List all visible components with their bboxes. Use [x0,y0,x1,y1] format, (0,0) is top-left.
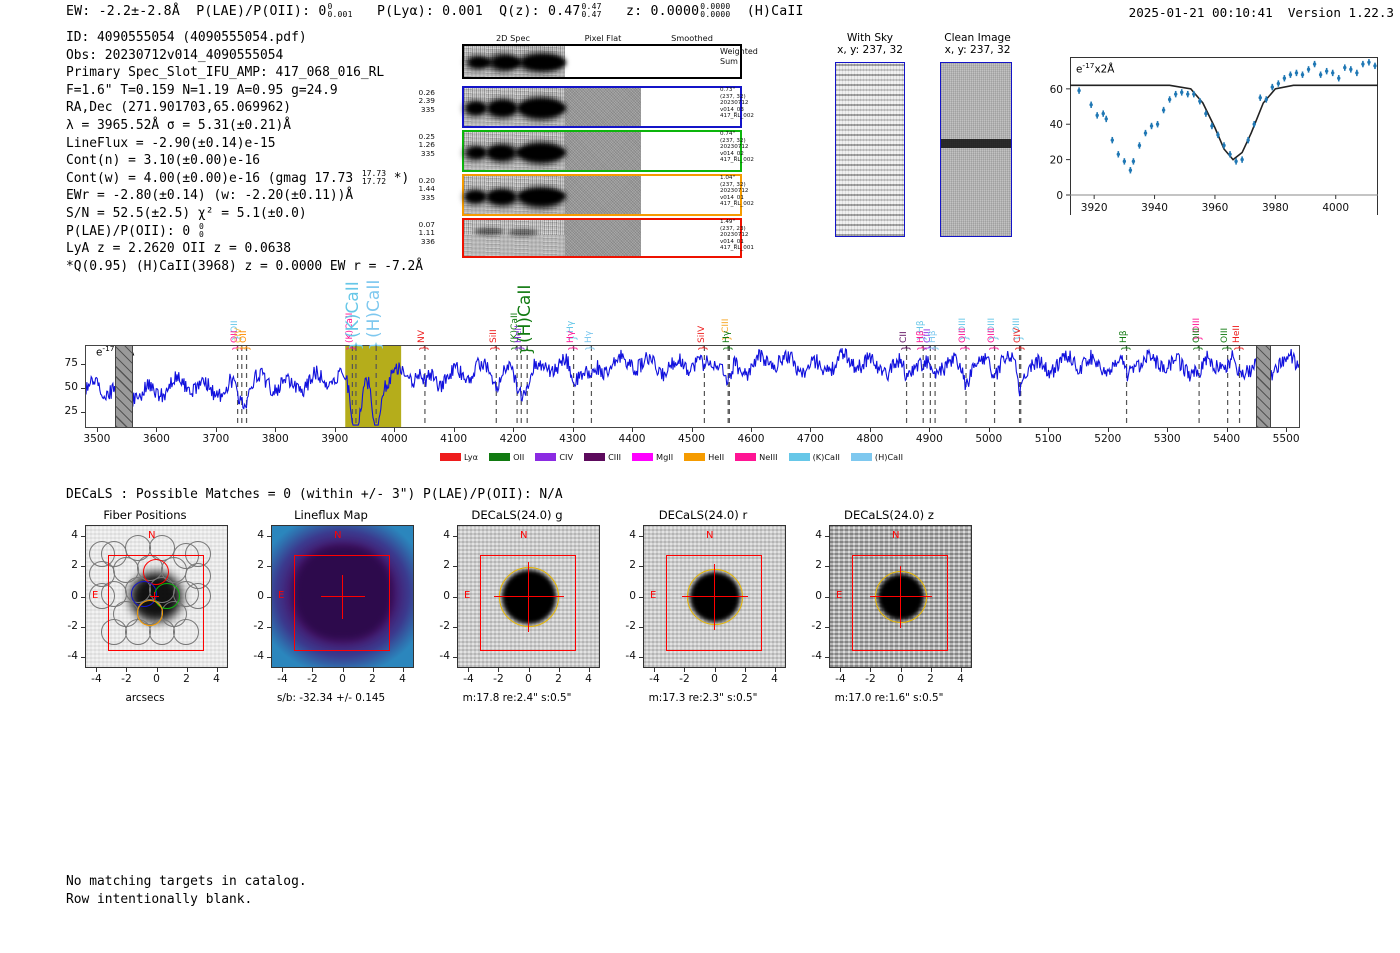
decals-xtick-mark-1-0 [282,668,283,672]
row1-pixelflat-image [565,88,642,126]
decals-ytick-3-0: -4 [613,650,636,662]
decals-ytick-mark-4-4 [825,536,829,537]
spectrum-line-brace-26: { [988,345,998,351]
decals-ytick-mark-1-3 [267,566,271,567]
spectrum-line-brace-24: { [959,345,969,351]
legend-label-2: CIV [559,452,573,462]
spec2d-row-2 [462,130,742,172]
decals-ytick-mark-0-0 [81,657,85,658]
decals-xtick-0-3: 2 [171,673,203,685]
spectrum-ytick-25: 25 [52,405,78,417]
spectrum-xtick-4200: 4200 [487,433,539,445]
decals-xtick-mark-2-3 [559,668,560,672]
spectrum-line-brace-28: { [1014,345,1024,351]
legend-label-3: CIII [608,452,621,462]
legend-swatch-4 [632,453,653,461]
spectrum-line-brace-11: { [519,346,534,356]
decals-xtick-1-2: 0 [327,673,359,685]
spectrum-xtick-mark-4400 [632,428,633,432]
decals-ytick-mark-2-2 [453,597,457,598]
row2-val-2: 335 [411,150,435,158]
decals-xtick-mark-3-3 [745,668,746,672]
clean-image-title: Clean Image x, y: 237, 32 [925,32,1030,57]
spectrum-line-brace-13: { [567,345,577,351]
decals-xtick-mark-1-1 [312,668,313,672]
svg-text:3960: 3960 [1202,202,1229,214]
z-label: z: [626,4,642,19]
legend-swatch-5 [684,453,705,461]
row4-meta-2: 20230712 [720,232,780,239]
footer-note: No matching targets in catalog. Row inte… [66,873,307,908]
decals-ytick-mark-1-4 [267,536,271,537]
decals-east-label-4: E [836,590,842,601]
spectrum-xtick-5200: 5200 [1082,433,1134,445]
decals-ytick-3-3: 2 [613,559,636,571]
spec2d-row-3 [462,174,742,216]
decals-panel-plot-4[interactable]: NE [829,525,972,668]
decals-xtick-1-0: -4 [266,673,298,685]
decals-north-label-3: N [706,530,713,541]
weighted-sum-line1: Weighted [720,47,758,56]
spectrum-line-label-NV-7: NV [418,311,427,343]
spectrum-xtick-mark-3600 [156,428,157,432]
legend-item-NeIII: NeIII [735,452,777,462]
z-line-id: (H)CaII [747,4,804,19]
row2-meta-0: 0.74" [720,131,780,138]
svg-text:20: 20 [1050,155,1063,167]
plae-label: P(LAE)/P(OII): [196,4,310,19]
decals-east-label-0: E [92,590,98,601]
target-info-block: ID: 4090555054 (4090555054.pdf) Obs: 202… [66,29,423,275]
decals-cross-v-3 [714,564,715,630]
svg-text:60: 60 [1050,84,1063,96]
zoom-line-plot: e-17x2Å 020406039203940396039804000 [1040,52,1388,215]
spectrum-xtick-4700: 4700 [784,433,836,445]
spectrum-line-brace-14: { [585,345,595,351]
decals-cross-v-2 [528,562,529,632]
decals-xtick-mark-3-0 [654,668,655,672]
decals-xtick-mark-0-2 [157,668,158,672]
spectrum-line-brace-17: { [723,345,733,351]
decals-xtick-mark-1-4 [403,668,404,672]
decals-xtick-0-0: -4 [80,673,112,685]
decals-xtick-mark-3-1 [684,668,685,672]
spectrum-xtick-4000: 4000 [368,433,420,445]
spectrum-xtick-mark-3900 [335,428,336,432]
row4-meta-1: (237, 23) [720,226,780,233]
decals-ytick-1-0: -4 [241,650,264,662]
with-sky-title-text: With Sky [847,32,893,44]
row1-val-2: 335 [411,106,435,114]
spectrum-xtick-5400: 5400 [1201,433,1253,445]
spectrum-xtick-4500: 4500 [666,433,718,445]
row1-meta-1: (237, 32) [720,94,780,101]
decals-panel-4[interactable]: DECaLS(24.0) zNE-4-4-2-2002244m:17.0 re:… [799,508,979,708]
fiber-marker-orange [137,600,163,626]
decals-ytick-mark-0-2 [81,597,85,598]
decals-xtick-mark-0-1 [126,668,127,672]
row4-meta-4: 417_RL_001 [720,245,780,252]
decals-ytick-mark-0-4 [81,536,85,537]
spectrum-xtick-4300: 4300 [547,433,599,445]
spec2d-col-title-2dspec: 2D Spec [462,33,564,43]
spectrum-line-label-Hβ-29: Hβ [1120,311,1129,343]
decals-xtick-1-4: 4 [387,673,419,685]
decals-xtick-2-2: 0 [513,673,545,685]
decals-panel-2[interactable]: DECaLS(24.0) gNE-4-4-2-2002244m:17.8 re:… [427,508,607,708]
row3-meta-4: 417_RL_002 [720,201,780,208]
legend-swatch-6 [735,453,756,461]
spectrum-line-brace-22: { [928,345,938,351]
spectrum-ytick-mark-25 [81,412,85,413]
spectrum-xtick-4900: 4900 [903,433,955,445]
legend-label-1: OII [513,452,524,462]
spectrum-line-brace-5: { [348,341,363,351]
spectrum-line-brace-15: { [698,345,708,351]
decals-xtick-0-4: 4 [201,673,233,685]
decals-xtick-2-3: 2 [543,673,575,685]
spectrum-line-label-HCaII-6: (H)CaII [366,268,383,338]
decals-ytick-0-3: 2 [55,559,78,571]
decals-ytick-2-3: 2 [427,559,450,571]
spectrum-line-label-CIV-28: CIV [1014,311,1023,343]
info-line-radec: RA,Dec (271.901703,65.069962) [66,99,423,117]
decals-ytick-mark-4-0 [825,657,829,658]
spectrum-line-brace-3: { [240,345,250,351]
svg-text:3920: 3920 [1081,202,1108,214]
decals-panel-plot-0[interactable]: NE [85,525,228,668]
decals-xtick-mark-2-1 [498,668,499,672]
decals-xtick-3-3: 2 [729,673,761,685]
spectrum-xtick-5100: 5100 [1022,433,1074,445]
spectrum-xtick-mark-4800 [870,428,871,432]
spectrum-line-brace-31: { [1192,345,1202,351]
spectrum-xtick-mark-5300 [1167,428,1168,432]
row3-meta-3: v014_01 [720,195,780,202]
decals-ytick-mark-3-1 [639,627,643,628]
spectrum-legend: LyαOIICIVCIIIMgIIHeIINeIII(K)CaII(H)CaII [440,452,903,462]
svg-text:40: 40 [1050,119,1063,131]
decals-north-label-0: N [148,530,155,541]
decals-xtick-mark-3-4 [775,668,776,672]
legend-item-CIII: CIII [584,452,621,462]
weighted-sum-label: Weighted Sum [720,47,758,66]
decals-panel-0[interactable]: Fiber PositionsNE-4-4-2-2002244arcsecs [55,508,235,708]
spectrum-xtick-mark-4900 [929,428,930,432]
spectrum-xtick-mark-4300 [573,428,574,432]
decals-ytick-mark-2-4 [453,536,457,537]
decals-panel-title-4: DECaLS(24.0) z [799,508,979,522]
spectrum-xtick-mark-3500 [97,428,98,432]
decals-east-label-1: E [278,590,284,601]
decals-panel-caption-0: arcsecs [55,692,235,704]
footer-line-2: Row intentionally blank. [66,891,307,909]
spectrum-xtick-mark-3800 [275,428,276,432]
row2-meta-4: 417_RL_002 [720,157,780,164]
spectrum-xtick-mark-5500 [1286,428,1287,432]
decals-xtick-mark-0-4 [217,668,218,672]
decals-panel-1[interactable]: Lineflux MapNE-4-4-2-2002244s/b: -32.34 … [241,508,421,708]
decals-ytick-2-2: 0 [427,590,450,602]
info-line-lambda-sigma: λ = 3965.52Å σ = 5.31(±0.21)Å [66,117,423,135]
decals-ytick-4-3: 2 [799,559,822,571]
row1-meta-2: 20230712 [720,100,780,107]
spectrum-masked-region-2 [1256,346,1271,427]
decals-xtick-mark-1-3 [373,668,374,672]
decals-ytick-1-3: 2 [241,559,264,571]
decals-xtick-mark-4-2 [901,668,902,672]
legend-item-CIV: CIV [535,452,573,462]
decals-ytick-3-4: 4 [613,529,636,541]
decals-ytick-mark-3-4 [639,536,643,537]
row3-meta-2: 20230712 [720,188,780,195]
row3-val-2: 335 [411,194,435,202]
spectrum-line-label-OIII-32: OIII [1221,311,1230,343]
spectrum-line-brace-29: { [1120,345,1130,351]
decals-ytick-mark-3-2 [639,597,643,598]
decals-ytick-mark-3-0 [639,657,643,658]
legend-label-0: Lyα [464,452,478,462]
spectrum-line-label-OIII-31: OIII [1193,311,1202,343]
ew-value: -2.2±-2.8Å [99,4,180,19]
decals-panel-3[interactable]: DECaLS(24.0) rNE-4-4-2-2002244m:17.3 re:… [613,508,793,708]
decals-xtick-mark-4-1 [870,668,871,672]
decals-xtick-2-4: 4 [573,673,605,685]
spectrum-xtick-4600: 4600 [725,433,777,445]
clean-image-coords: x, y: 237, 32 [945,44,1011,56]
decals-ytick-mark-3-3 [639,566,643,567]
spec2d-row-4 [462,218,742,258]
row4-val-2: 336 [411,238,435,246]
legend-item-OII: OII [489,452,524,462]
decals-ytick-4-4: 4 [799,529,822,541]
decals-xtick-mark-3-2 [715,668,716,672]
spectrum-ytick-50: 50 [52,381,78,393]
legend-label-8: (H)CaII [875,452,903,462]
spectrum-line-label-HCaII-11: (H)CaII [517,311,534,343]
info-line-obs: Obs: 20230712v014_4090555054 [66,47,423,65]
decals-xtick-mark-0-3 [187,668,188,672]
spectrum-ytick-75: 75 [52,357,78,369]
decals-panel-caption-1: s/b: -32.34 +/- 0.145 [241,692,421,704]
spectrum-line-brace-6: { [368,341,383,351]
legend-swatch-3 [584,453,605,461]
row1-meta-3: v014_03 [720,107,780,114]
z-sub: 0.0000 [700,10,730,19]
legend-label-6: NeIII [759,452,777,462]
legend-label-7: (K)CaII [813,452,840,462]
timestamp-version: 2025-01-21 00:10:41 Version 1.22.3 [1129,5,1394,20]
spectrum-xtick-3900: 3900 [309,433,361,445]
decals-east-label-3: E [650,590,656,601]
decals-ytick-mark-1-1 [267,627,271,628]
legend-item-Lyα: Lyα [440,452,478,462]
decals-ytick-4-0: -4 [799,650,822,662]
row1-meta-4: 417_RL_002 [720,113,780,120]
row2-meta-2: 20230712 [720,144,780,151]
decals-panel-title-0: Fiber Positions [55,508,235,522]
spectrum-line-label-Hγ-13: Hγ [567,311,576,343]
spectrum-xtick-5000: 5000 [963,433,1015,445]
spectrum-xtick-mark-5400 [1227,428,1228,432]
qz-value: 0.47 [548,4,581,19]
decals-ytick-mark-2-1 [453,627,457,628]
weighted-sum-pixelflat-image [565,46,642,77]
decals-xtick-4-3: 2 [915,673,947,685]
legend-item-KCaII: (K)CaII [789,452,840,462]
svg-text:0: 0 [1056,190,1063,202]
spectrum-line-brace-7: { [418,345,428,351]
fiber-center-cross-v [154,592,155,601]
info-line-ewr: EWr = -2.80(±0.14) (w: -2.20(±0.11))Å [66,187,423,205]
decals-ytick-2-1: -2 [427,620,450,632]
row2-meta-1: (237, 32) [720,138,780,145]
row4-pixelflat-image [565,220,642,256]
spectrum-xtick-mark-4500 [692,428,693,432]
lineflux-cross-v [342,575,343,619]
spectrum-xtick-4800: 4800 [844,433,896,445]
spectrum-line-label-CII-18: CII [900,311,909,343]
legend-item-HCaII: (H)CaII [851,452,903,462]
qz-sub: 0.47 [582,10,602,19]
spectrum-line-label-HeII-33: HeII [1233,311,1242,343]
header-summary-line: EW: -2.2±-2.8Å P(LAE)/P(OII): 000.001 P(… [66,3,804,19]
decals-panel-title-2: DECaLS(24.0) g [427,508,607,522]
legend-swatch-8 [851,453,872,461]
spectrum-line-label-Hβ-22: Hβ [929,311,938,343]
decals-xtick-2-1: -2 [482,673,514,685]
timestamp: 2025-01-21 00:10:41 [1129,5,1273,20]
plya-value: 0.001 [442,4,483,19]
spectrum-xtick-3500: 3500 [71,433,123,445]
info-line-lineflux: LineFlux = -2.90(±0.14)e-15 [66,135,423,153]
spectrum-ytick-mark-50 [81,388,85,389]
version-label: Version 1.22.3 [1288,5,1394,20]
info-line-plae: P(LAE)/P(OII): 0 00 [66,223,423,241]
spectrum-line-label-SiIV-15: SiIV [698,311,707,343]
row2-right-meta: 0.74" (237, 32) 20230712 v014_02 417_RL_… [720,131,780,164]
decals-panel-caption-4: m:17.0 re:1.6" s:0.5" [799,692,979,704]
decals-north-label-2: N [520,530,527,541]
row2-pixelflat-image [565,132,642,170]
row3-right-meta: 1.04" (237, 32) 20230712 v014_01 417_RL_… [720,175,780,208]
decals-ytick-0-0: -4 [55,650,78,662]
decals-ytick-mark-2-0 [453,657,457,658]
row1-left-values: 0.26 2.39 335 [411,89,435,114]
spectrum-xtick-5500: 5500 [1260,433,1312,445]
decals-ytick-3-1: -2 [613,620,636,632]
ew-label: EW: [66,4,90,19]
spectrum-xtick-mark-4700 [810,428,811,432]
row2-left-values: 0.25 1.26 335 [411,133,435,158]
svg-text:3940: 3940 [1141,202,1168,214]
decals-cross-v-4 [900,566,901,628]
row3-meta-1: (237, 32) [720,182,780,189]
decals-panel-title-1: Lineflux Map [241,508,421,522]
spectrum-line-brace-8: { [489,345,499,351]
decals-xtick-2-0: -4 [452,673,484,685]
info-line-fwhm: F=1.6" T=0.159 N=1.19 A=0.95 g=24.9 [66,82,423,100]
full-spectrum-plot [85,345,1300,428]
decals-xtick-mark-0-0 [96,668,97,672]
decals-header: DECaLS : Possible Matches = 0 (within +/… [66,487,563,502]
legend-swatch-1 [489,453,510,461]
decals-north-label-1: N [334,530,341,541]
spectrum-line-label-OII-3: OII [240,311,249,343]
spec2d-col-title-pixelflat: Pixel Flat [564,33,642,43]
legend-item-HeII: HeII [684,452,724,462]
with-sky-coords: x, y: 237, 32 [837,44,903,56]
decals-panel-plot-1[interactable]: NE [271,525,414,668]
decals-ytick-3-2: 0 [613,590,636,602]
row3-left-values: 0.20 1.44 335 [411,177,435,202]
info-line-primary-spec: Primary Spec_Slot_IFU_AMP: 417_068_016_R… [66,64,423,82]
decals-xtick-mark-2-0 [468,668,469,672]
info-line-id: ID: 4090555054 (4090555054.pdf) [66,29,423,47]
with-sky-title: With Sky x, y: 237, 32 [820,32,920,57]
decals-xtick-3-4: 4 [759,673,791,685]
legend-label-4: MgII [656,452,673,462]
row3-meta-0: 1.04" [720,175,780,182]
spectrum-line-label-Hγ-14: Hγ [585,311,594,343]
decals-ytick-1-1: -2 [241,620,264,632]
decals-ytick-mark-0-1 [81,627,85,628]
spec2d-panel-group: 2D Spec Pixel Flat Smoothed Weighted Sum [437,33,757,258]
clean-image-title-text: Clean Image [944,32,1011,44]
spectrum-svg [86,346,1299,427]
decals-north-label-4: N [892,530,899,541]
row1-right-meta: 0.73" (237, 32) 20230712 v014_03 417_RL_… [720,87,780,120]
decals-ytick-mark-2-3 [453,566,457,567]
svg-text:3980: 3980 [1262,202,1289,214]
weighted-sum-line2: Sum [720,57,738,66]
row2-meta-3: v014_02 [720,151,780,158]
spectrum-xtick-3700: 3700 [190,433,242,445]
decals-xtick-mark-4-3 [931,668,932,672]
spectrum-line-brace-32: { [1221,345,1231,351]
decals-thumbnail-row: Fiber PositionsNE-4-4-2-2002244arcsecsLi… [55,508,1055,708]
qz-label: Q(z): [499,4,540,19]
decals-panel-plot-3[interactable]: NE [643,525,786,668]
decals-ytick-mark-0-3 [81,566,85,567]
decals-panel-caption-2: m:17.8 re:2.4" s:0.5" [427,692,607,704]
spectrum-line-label-KCaII-5: (K)CaII [345,268,362,338]
plya-label: P(Lyα): [377,4,434,19]
decals-ytick-mark-4-3 [825,566,829,567]
svg-text:4000: 4000 [1322,202,1349,214]
decals-panel-plot-2[interactable]: NE [457,525,600,668]
decals-xtick-4-1: -2 [854,673,886,685]
decals-xtick-mark-1-2 [343,668,344,672]
decals-ytick-0-4: 4 [55,529,78,541]
legend-swatch-2 [535,453,556,461]
decals-ytick-mark-4-1 [825,627,829,628]
decals-panel-title-3: DECaLS(24.0) r [613,508,793,522]
legend-swatch-0 [440,453,461,461]
spectrum-xtick-5300: 5300 [1141,433,1193,445]
decals-xtick-1-3: 2 [357,673,389,685]
decals-xtick-4-2: 0 [885,673,917,685]
spectrum-line-brace-18: { [900,345,910,351]
decals-ytick-1-2: 0 [241,590,264,602]
row4-left-values: 0.07 1.11 336 [411,221,435,246]
row1-meta-0: 0.73" [720,87,780,94]
with-sky-image [835,62,905,237]
decals-xtick-0-1: -2 [110,673,142,685]
spectrum-xtick-4400: 4400 [606,433,658,445]
decals-xtick-mark-4-4 [961,668,962,672]
spectrum-xtick-mark-5000 [989,428,990,432]
